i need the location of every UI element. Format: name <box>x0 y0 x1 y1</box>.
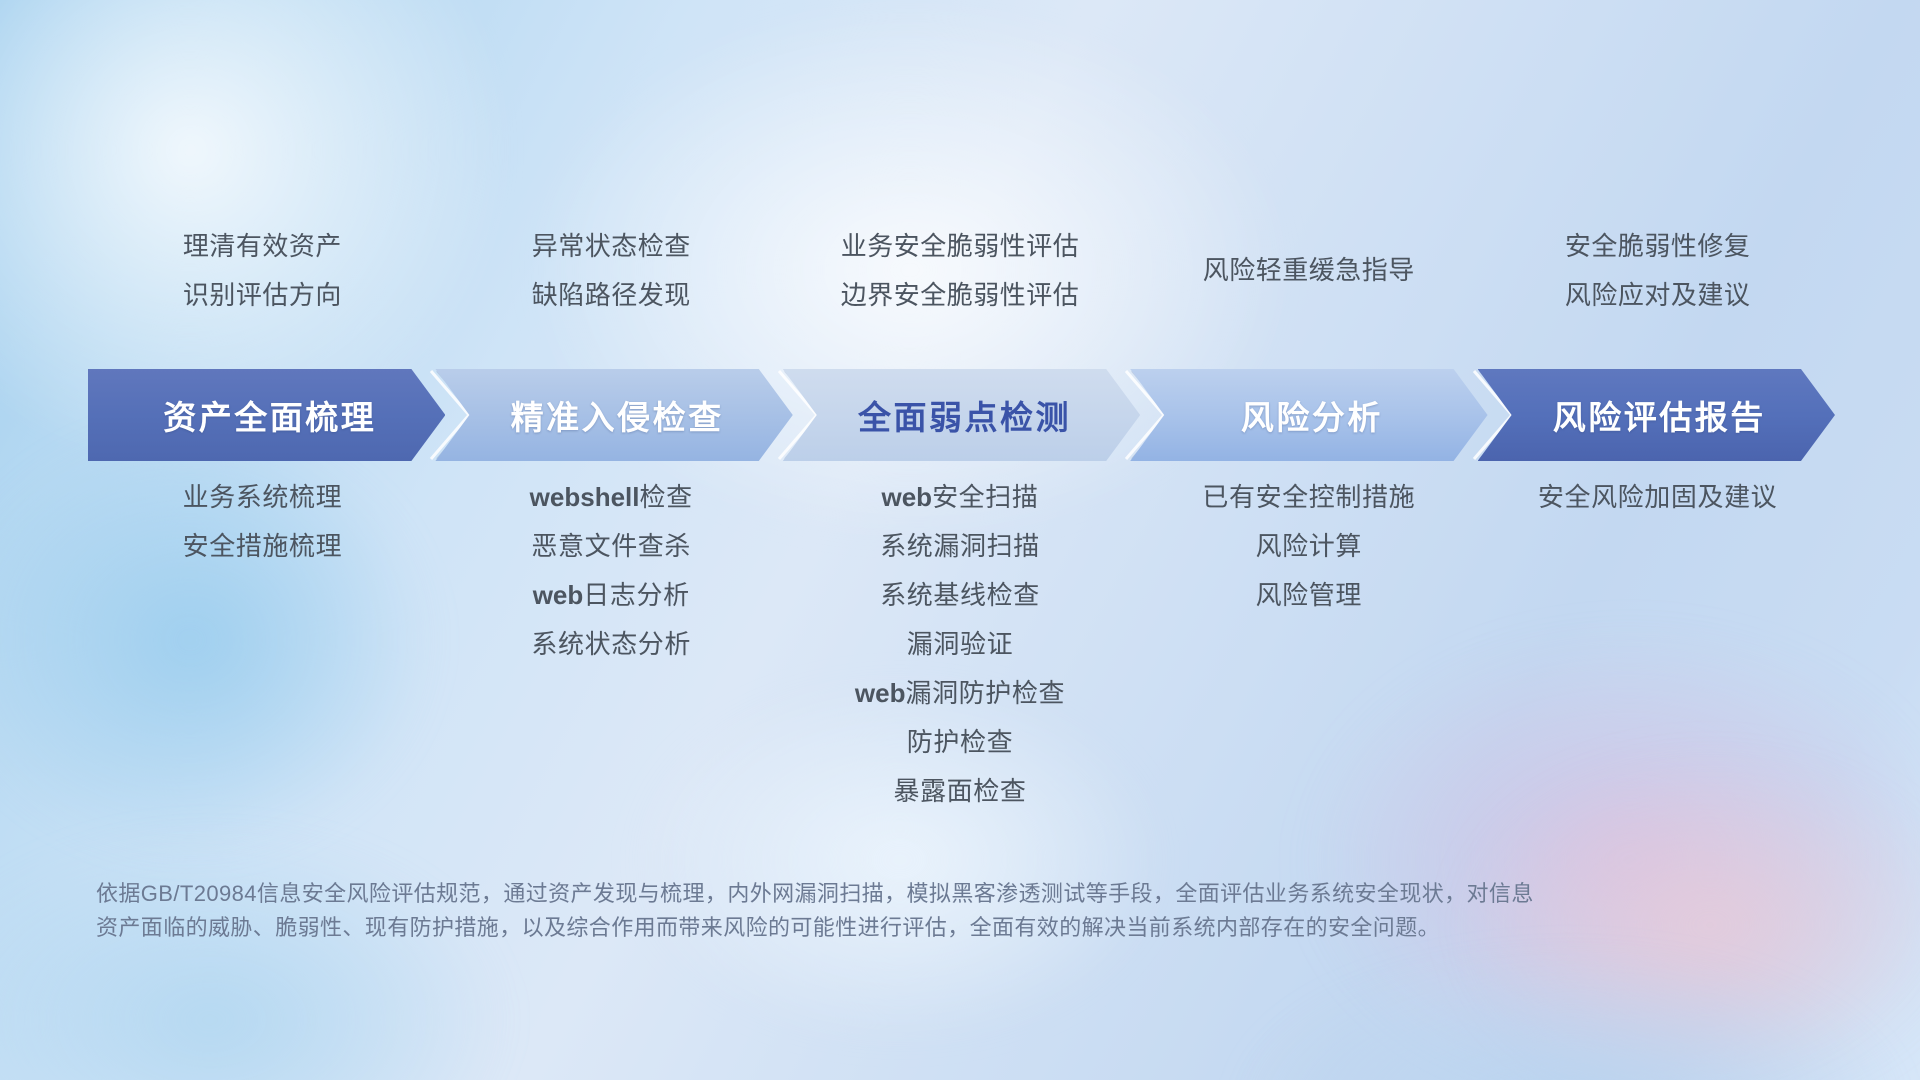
stage-title: 精准入侵检查 <box>511 391 724 439</box>
stage-item: web日志分析 <box>443 571 780 620</box>
top-note: 风险应对及建议 <box>1491 271 1824 320</box>
items-col-risk-report: 安全风险加固及建议 <box>1483 473 1832 522</box>
stage-item: 漏洞验证 <box>792 620 1129 669</box>
stage-item: 安全措施梳理 <box>94 522 431 571</box>
footer-line-2: 资产面临的威胁、脆弱性、现有防护措施，以及综合作用而带来风险的可能性进行评估，全… <box>96 911 1626 945</box>
bottom-items-row: 业务系统梳理安全措施梳理webshell检查恶意文件查杀web日志分析系统状态分… <box>88 473 1832 816</box>
stage-item: 系统漏洞扫描 <box>792 522 1129 571</box>
top-note: 异常状态检查 <box>445 222 778 271</box>
top-note: 识别评估方向 <box>96 271 429 320</box>
top-note: 业务安全脆弱性评估 <box>794 222 1127 271</box>
top-notes-col-intrusion-check: 异常状态检查缺陷路径发现 <box>437 222 786 320</box>
stage-item: 业务系统梳理 <box>94 473 431 522</box>
stage-item: 已有安全控制措施 <box>1140 473 1477 522</box>
stage-item: 系统状态分析 <box>443 620 780 669</box>
stage-arrow-risk-analysis[interactable]: 风险分析 <box>1130 369 1487 461</box>
stage-title: 资产全面梳理 <box>163 391 376 439</box>
top-notes-row: 理清有效资产识别评估方向异常状态检查缺陷路径发现业务安全脆弱性评估边界安全脆弱性… <box>88 222 1832 320</box>
stage-item: 恶意文件查杀 <box>443 522 780 571</box>
stage-item: 风险计算 <box>1140 522 1477 571</box>
top-notes-col-weakness-detection: 业务安全脆弱性评估边界安全脆弱性评估 <box>786 222 1135 320</box>
stage-item: 系统基线检查 <box>792 571 1129 620</box>
items-col-intrusion-check: webshell检查恶意文件查杀web日志分析系统状态分析 <box>437 473 786 669</box>
stage-title: 风险评估报告 <box>1553 391 1766 439</box>
stage-item: 防护检查 <box>792 718 1129 767</box>
top-note: 风险轻重缓急指导 <box>1142 246 1475 295</box>
stage-arrow-weakness-detection[interactable]: 全面弱点检测 <box>783 369 1140 461</box>
footer-line-1: 依据GB/T20984信息安全风险评估规范，通过资产发现与梳理，内外网漏洞扫描，… <box>96 877 1626 911</box>
top-note: 边界安全脆弱性评估 <box>794 271 1127 320</box>
items-col-asset-inventory: 业务系统梳理安全措施梳理 <box>88 473 437 571</box>
top-note: 缺陷路径发现 <box>445 271 778 320</box>
process-diagram: 理清有效资产识别评估方向异常状态检查缺陷路径发现业务安全脆弱性评估边界安全脆弱性… <box>0 0 1920 1080</box>
top-notes-col-asset-inventory: 理清有效资产识别评估方向 <box>88 222 437 320</box>
stage-item: web漏洞防护检查 <box>792 669 1129 718</box>
top-notes-col-risk-report: 安全脆弱性修复风险应对及建议 <box>1483 222 1832 320</box>
stage-title: 风险分析 <box>1241 391 1383 439</box>
stage-arrow-risk-report[interactable]: 风险评估报告 <box>1478 369 1835 461</box>
stage-arrow-intrusion-check[interactable]: 精准入侵检查 <box>435 369 792 461</box>
stage-item: webshell检查 <box>443 473 780 522</box>
stage-item: 风险管理 <box>1140 571 1477 620</box>
stage-title: 全面弱点检测 <box>858 391 1071 439</box>
items-col-risk-analysis: 已有安全控制措施风险计算风险管理 <box>1134 473 1483 620</box>
stage-item: web安全扫描 <box>792 473 1129 522</box>
top-note: 理清有效资产 <box>96 222 429 271</box>
stage-arrow-asset-inventory[interactable]: 资产全面梳理 <box>88 369 445 461</box>
top-notes-col-risk-analysis: 风险轻重缓急指导 <box>1134 222 1483 295</box>
top-note: 安全脆弱性修复 <box>1491 222 1824 271</box>
items-col-weakness-detection: web安全扫描系统漏洞扫描系统基线检查漏洞验证web漏洞防护检查防护检查暴露面检… <box>786 473 1135 816</box>
stage-arrow-band: 资产全面梳理精准入侵检查全面弱点检测风险分析风险评估报告 <box>88 369 1835 461</box>
stage-item: 暴露面检查 <box>792 767 1129 816</box>
stage-item: 安全风险加固及建议 <box>1489 473 1826 522</box>
footer-description: 依据GB/T20984信息安全风险评估规范，通过资产发现与梳理，内外网漏洞扫描，… <box>96 877 1626 945</box>
